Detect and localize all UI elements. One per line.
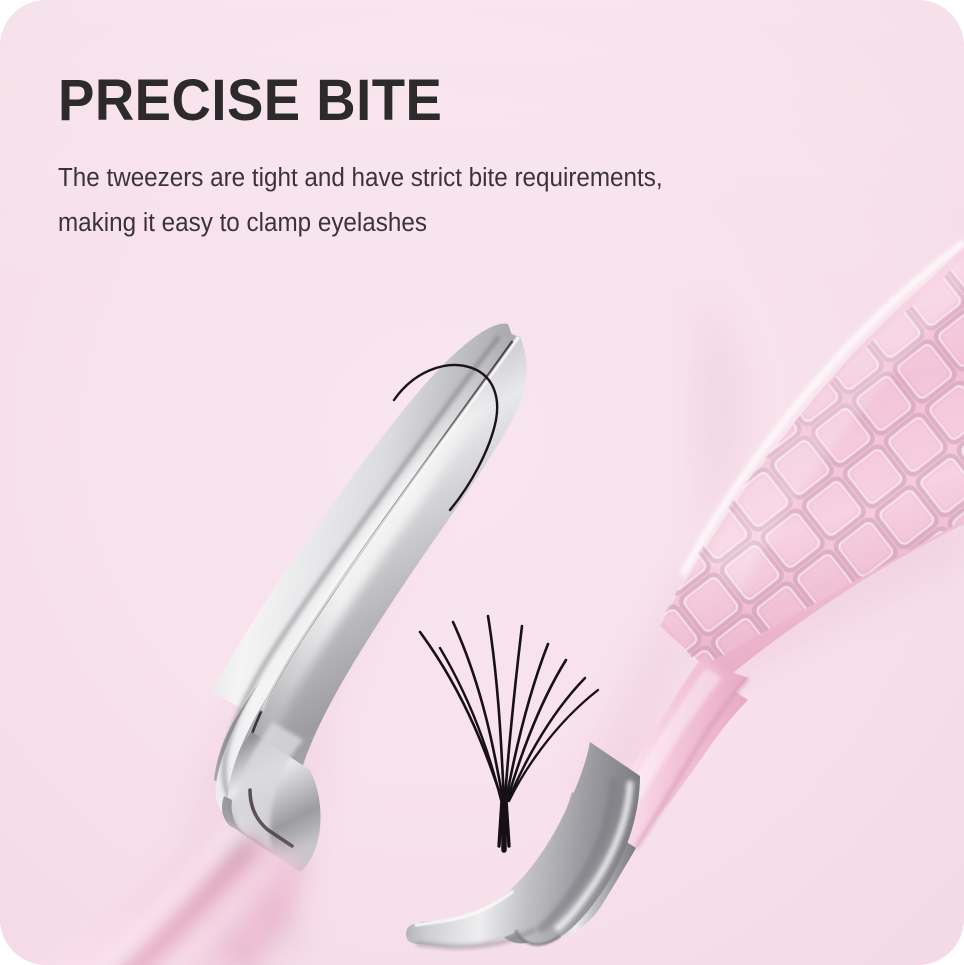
right-handle-neck [604,684,748,842]
left-tweezer-lower-blade [214,340,521,812]
lash-fan [420,616,598,850]
single-lash-hair [394,365,497,510]
right-tweezer [406,200,964,951]
right-handle [660,246,964,682]
right-metal-shank [548,822,636,936]
page-title: PRECISE BITE [58,72,791,130]
product-feature-card-canvas: PRECISE BITE The tweezers are tight and … [0,0,964,965]
right-tweezer-elbow [496,914,541,943]
description-line-1: The tweezers are tight and have strict b… [58,156,780,201]
left-handle [10,832,306,965]
left-tweezer-ferrule [228,732,321,872]
feature-description: The tweezers are tight and have strict b… [58,130,780,247]
left-handle-body [10,834,300,965]
left-tweezer [150,324,527,965]
right-tweezer-boot [406,742,640,947]
description-line-2: making it easy to clamp eyelashes [58,201,780,246]
left-tweezer-upper-blade [212,324,513,710]
right-tweezer-leg [526,776,636,937]
feature-card: PRECISE BITE The tweezers are tight and … [0,0,964,965]
text-block: PRECISE BITE The tweezers are tight and … [58,72,838,247]
